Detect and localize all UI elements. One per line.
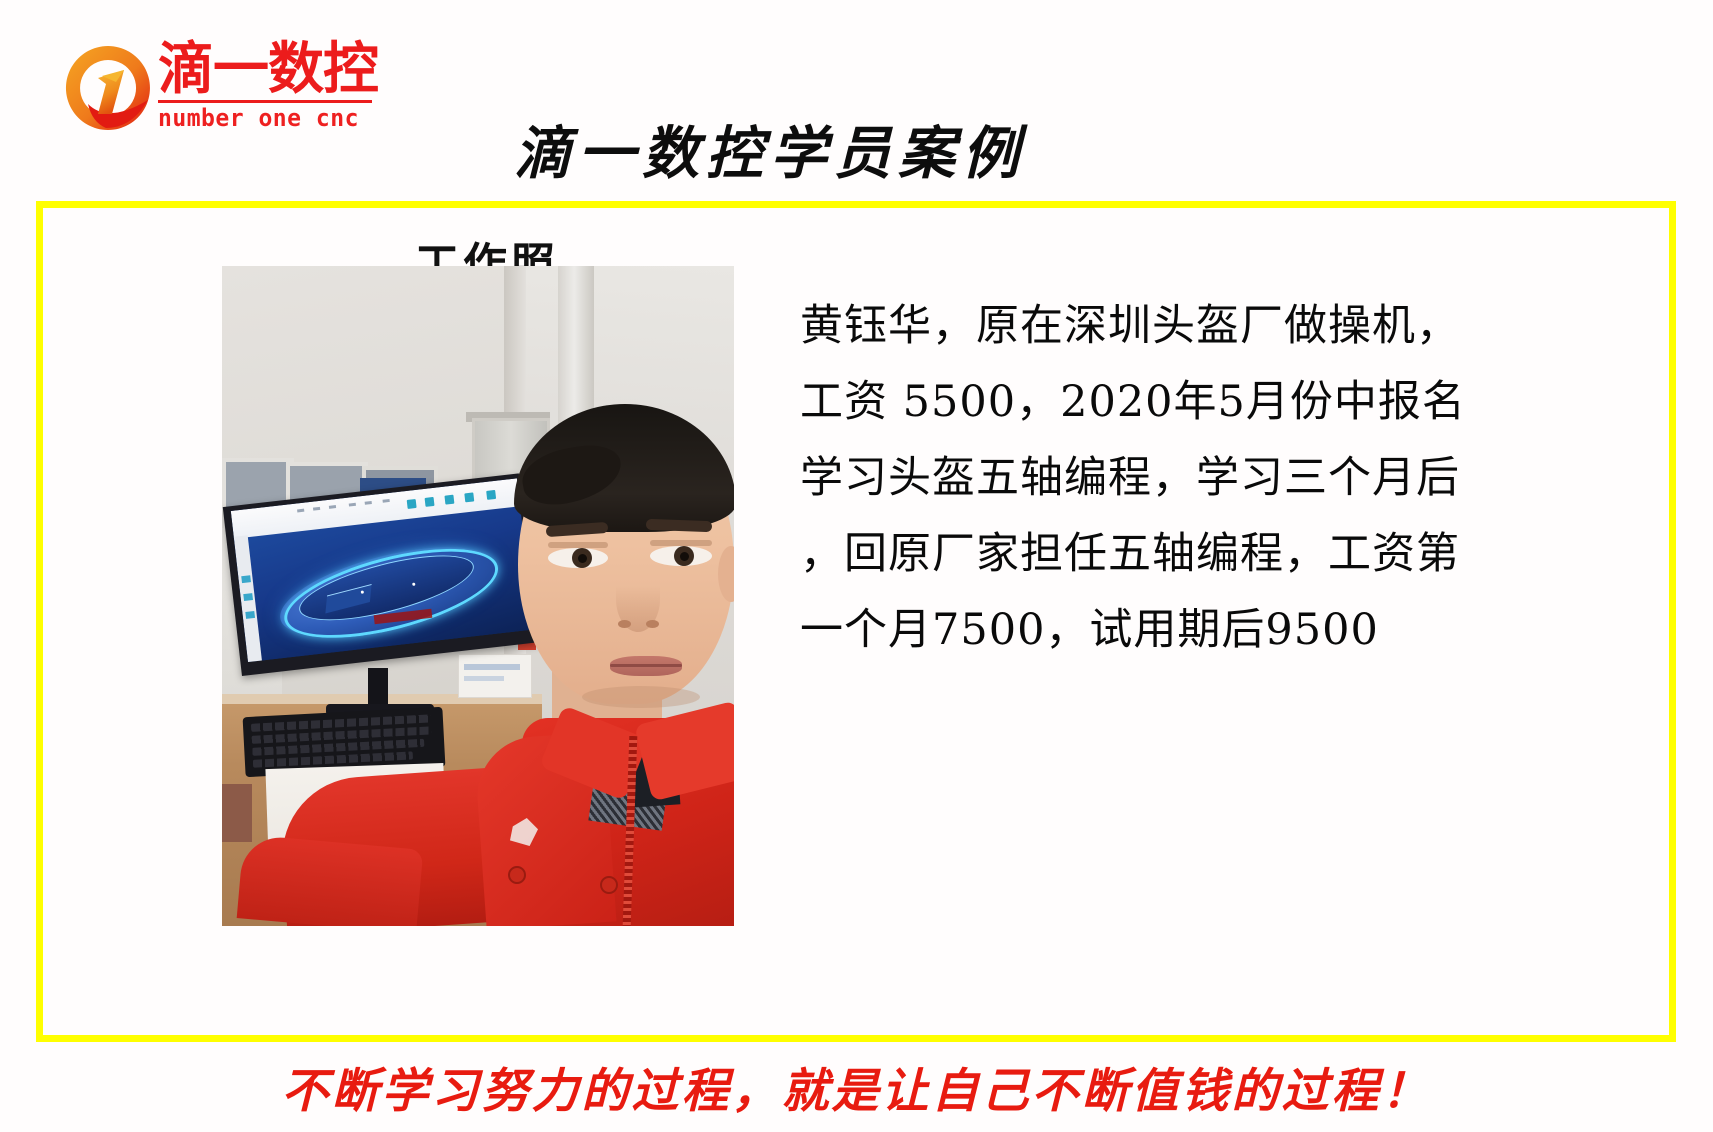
photo-side-chip-3 xyxy=(245,611,255,619)
photo-paper-line-b xyxy=(464,676,504,681)
photo-person-lip-line xyxy=(610,664,682,667)
photo-person-eyebrow-right xyxy=(646,519,712,532)
logo-chinese-text: 滴一数控 xyxy=(158,40,378,100)
photo-ribbon-tick-1 xyxy=(297,509,304,513)
photo-monitor-screen xyxy=(231,478,534,662)
photo-desk-box xyxy=(222,784,252,842)
case-text-line: 学习头盔五轴编程，学习三个月后 xyxy=(800,440,1530,516)
brand-logo: 滴一数控 number one cnc xyxy=(62,38,372,136)
case-text-line: ，回原厂家担任五轴编程，工资第 xyxy=(800,516,1530,592)
case-text-line: 黄钰华，原在深圳头盔厂做操机， xyxy=(800,288,1530,364)
photo-person-pupil-left xyxy=(578,554,587,563)
photo-person-nostril-left xyxy=(618,620,631,628)
photo-person-eyelid-right xyxy=(650,540,712,546)
photo-ribbon-button-4 xyxy=(464,492,474,502)
photo-ribbon-button-3 xyxy=(444,495,454,505)
photo-person-nostril-right xyxy=(646,620,659,628)
photo-person-pupil-right xyxy=(680,552,689,561)
photo-ribbon-tick-3 xyxy=(329,505,336,509)
photo-paper-line-a xyxy=(464,664,520,670)
photo-side-chip-1 xyxy=(241,575,251,583)
photo-jacket-button-1 xyxy=(508,866,526,884)
student-work-photo xyxy=(222,266,734,926)
photo-person-eyelid-left xyxy=(548,542,608,548)
photo-side-chip-2 xyxy=(243,593,253,601)
case-text-line: 工资 5500，2020年5月份中报名 xyxy=(800,364,1530,440)
photo-ribbon-tick-4 xyxy=(349,503,356,507)
case-description-text: 黄钰华，原在深圳头盔厂做操机， 工资 5500，2020年5月份中报名 学习头盔… xyxy=(800,288,1530,668)
photo-ribbon-tick-6 xyxy=(382,499,389,503)
case-text-line: 一个月7500，试用期后9500 xyxy=(800,592,1530,668)
photo-person-chin-shadow xyxy=(582,686,700,708)
photo-ribbon-button-1 xyxy=(407,499,417,509)
photo-ribbon-tick-5 xyxy=(365,501,372,505)
logo-english-text: number one cnc xyxy=(158,104,363,132)
photo-ribbon-button-5 xyxy=(486,490,496,500)
photo-ribbon-tick-2 xyxy=(313,507,320,511)
page-title: 滴一数控学员案例 xyxy=(470,108,1070,190)
photo-ribbon-button-2 xyxy=(425,497,435,507)
footer-slogan: 不断学习努力的过程，就是让自己不断值钱的过程！ xyxy=(0,1052,1713,1121)
photo-person-forearm xyxy=(237,834,424,926)
logo-wordmark: 滴一数控 number one cnc xyxy=(158,38,372,136)
logo-mark-icon xyxy=(62,42,154,134)
logo-divider-rule xyxy=(158,100,372,103)
photo-jacket-button-2 xyxy=(600,876,618,894)
